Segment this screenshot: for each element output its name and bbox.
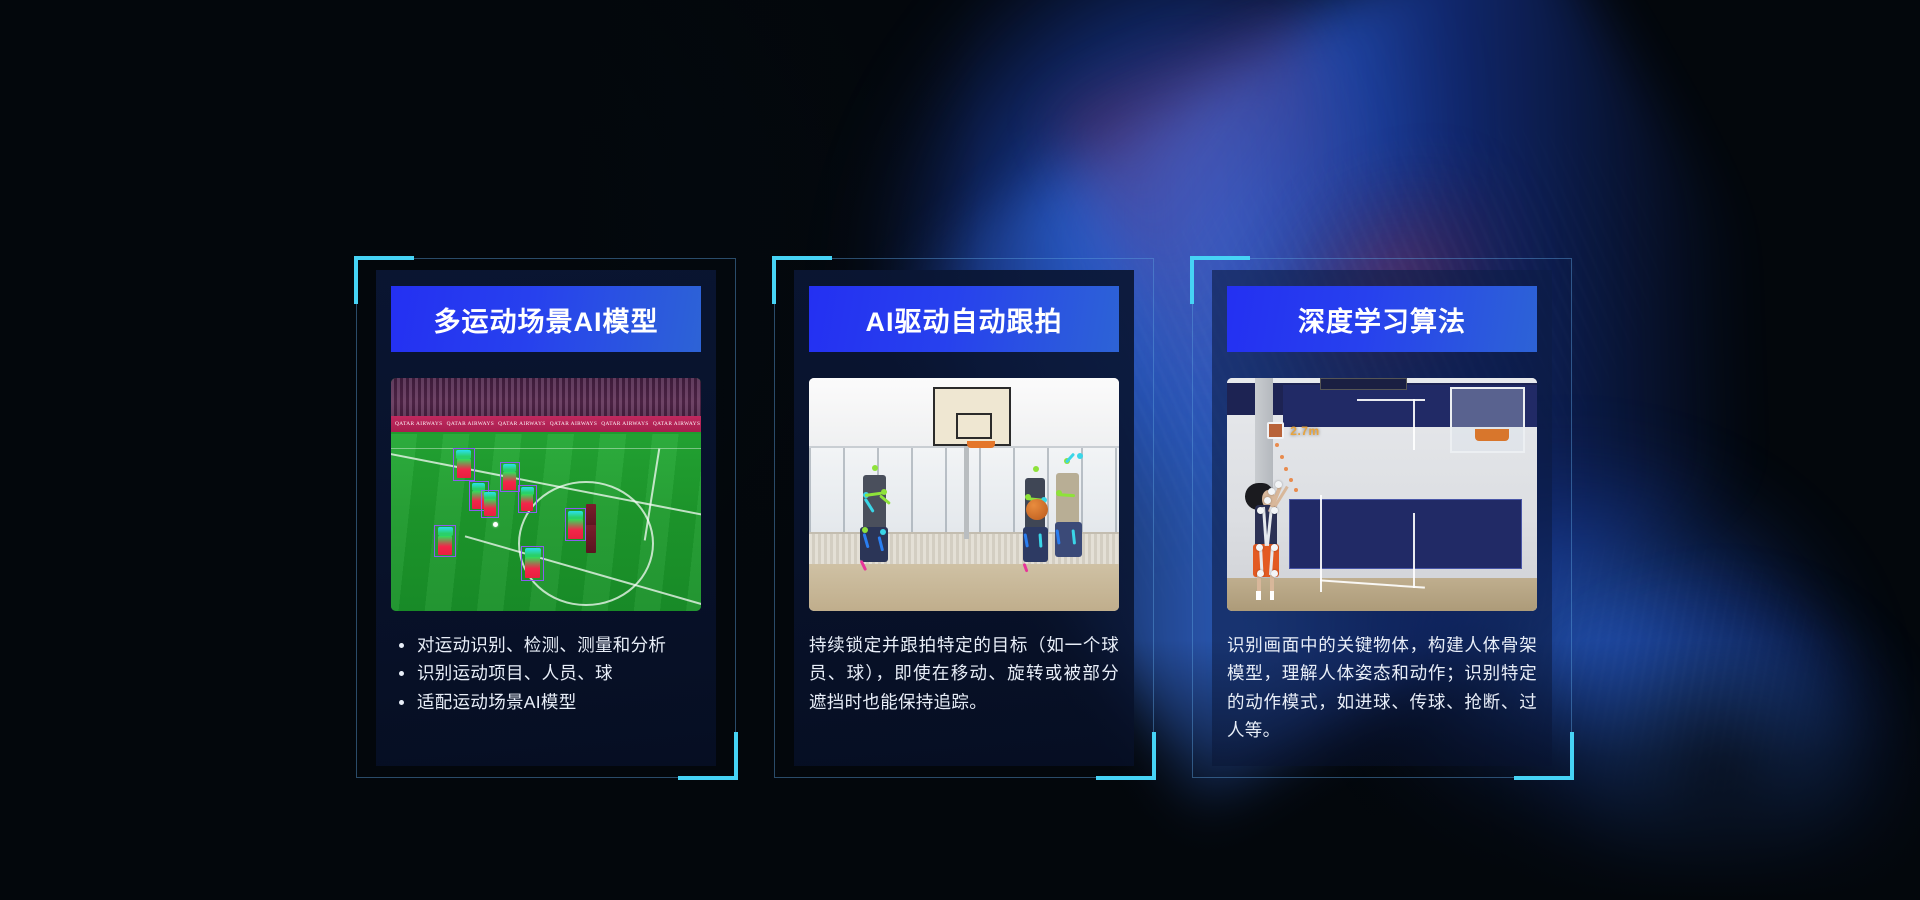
hoarding-text: QATAR AIRWAYS bbox=[391, 421, 443, 427]
feature-bullet-list: 对运动识别、检测、测量和分析 识别运动项目、人员、球 适配运动场景AI模型 bbox=[391, 631, 701, 716]
feature-card-multi-sport-ai-model[interactable]: 多运动场景AI模型 QATAR AIRWAYS QATAR AIRWAYS QA… bbox=[356, 258, 736, 778]
basketball bbox=[1026, 499, 1048, 520]
hoarding-text: QATAR AIRWAYS bbox=[443, 421, 495, 427]
pose-keypoint bbox=[1033, 466, 1039, 472]
pose-keypoint bbox=[881, 489, 887, 495]
pose-skeleton-lower bbox=[503, 472, 516, 490]
player-torso bbox=[1056, 473, 1079, 528]
pose-skeleton-upper bbox=[456, 450, 471, 459]
pose-skeleton-lower bbox=[457, 459, 471, 479]
card-title: 多运动场景AI模型 bbox=[391, 286, 701, 352]
basketball-rim bbox=[967, 441, 995, 448]
backboard bbox=[933, 387, 1011, 445]
card-media-football-pitch-detection-screenshot: QATAR AIRWAYS QATAR AIRWAYS QATAR AIRWAY… bbox=[391, 378, 701, 611]
pose-keypoint bbox=[1275, 481, 1282, 488]
player-shoe bbox=[1256, 591, 1260, 601]
pose-skeleton-lower bbox=[521, 494, 533, 511]
stadium-crowd bbox=[391, 378, 701, 418]
card-body: 持续锁定并跟拍特定的目标（如一个球员、球），即使在移动、旋转或被部分遮挡时也能保… bbox=[809, 631, 1119, 716]
pose-bone bbox=[1065, 453, 1075, 464]
gym-shot-image: 2.7m bbox=[1227, 378, 1537, 611]
card-media-indoor-basketball-pose-screenshot bbox=[809, 378, 1119, 611]
list-item: 对运动识别、检测、测量和分析 bbox=[391, 631, 701, 659]
detection-box bbox=[434, 525, 456, 558]
list-item: 适配运动场景AI模型 bbox=[391, 688, 701, 716]
pose-keypoint bbox=[1077, 453, 1083, 459]
backboard bbox=[1450, 387, 1524, 452]
pose-skeleton-lower bbox=[525, 557, 540, 578]
card-paragraph: 识别画面中的关键物体，构建人体骨架模型，理解人体姿态和动作；识别特定的动作模式，… bbox=[1227, 631, 1537, 744]
pose-bone bbox=[1022, 563, 1028, 573]
advertising-hoarding: QATAR AIRWAYS QATAR AIRWAYS QATAR AIRWAY… bbox=[391, 416, 701, 431]
detection-box bbox=[521, 546, 544, 581]
pose-skeleton-lower bbox=[438, 536, 452, 556]
pose-skeleton-lower bbox=[484, 499, 496, 516]
pitch-image: QATAR AIRWAYS QATAR AIRWAYS QATAR AIRWAY… bbox=[391, 378, 701, 611]
pose-bone bbox=[1038, 534, 1042, 548]
feature-card-deep-learning-algorithm[interactable]: 深度学习算法 bbox=[1192, 258, 1572, 778]
pose-keypoint bbox=[1271, 544, 1278, 551]
tracking-line-horizontal bbox=[1357, 399, 1425, 401]
pose-keypoint bbox=[1256, 544, 1263, 551]
card-panel: AI驱动自动跟拍 bbox=[794, 270, 1134, 766]
detection-box bbox=[481, 490, 500, 518]
pose-keypoint bbox=[1271, 507, 1278, 514]
card-media-basketball-shot-trajectory-screenshot: 2.7m bbox=[1227, 378, 1537, 611]
card-body: 识别画面中的关键物体，构建人体骨架模型，理解人体姿态和动作；识别特定的动作模式，… bbox=[1227, 631, 1537, 744]
slide-stage: 多运动场景AI模型 QATAR AIRWAYS QATAR AIRWAYS QA… bbox=[0, 0, 1920, 900]
distance-value: 2.7m bbox=[1290, 424, 1319, 438]
basketball-rim bbox=[1475, 429, 1509, 441]
hoarding-text: QATAR AIRWAYS bbox=[546, 421, 598, 427]
opposing-player bbox=[586, 525, 595, 553]
card-body: 对运动识别、检测、测量和分析 识别运动项目、人员、球 适配运动场景AI模型 bbox=[391, 631, 701, 716]
card-title: 深度学习算法 bbox=[1227, 286, 1537, 352]
detection-box bbox=[500, 462, 520, 492]
trajectory-point bbox=[1280, 455, 1284, 459]
feature-card-ai-auto-tracking[interactable]: AI驱动自动跟拍 bbox=[774, 258, 1154, 778]
pose-skeleton-lower bbox=[568, 519, 582, 539]
pitch-line-touchline bbox=[391, 448, 701, 450]
detection-box bbox=[565, 508, 587, 541]
player-shoe bbox=[1270, 591, 1274, 601]
wall-padding bbox=[1289, 499, 1522, 569]
trajectory-point bbox=[1294, 488, 1298, 492]
tracking-line-vertical bbox=[1413, 399, 1415, 450]
list-item: 识别运动项目、人员、球 bbox=[391, 659, 701, 687]
hoarding-text: QATAR AIRWAYS bbox=[597, 421, 649, 427]
pose-keypoint bbox=[872, 465, 878, 471]
hoarding-text: QATAR AIRWAYS bbox=[494, 421, 546, 427]
hoarding-text: QATAR AIRWAYS bbox=[649, 421, 701, 427]
card-title: AI驱动自动跟拍 bbox=[809, 286, 1119, 352]
distance-measurement-tag: 2.7m bbox=[1267, 422, 1319, 439]
detection-box bbox=[453, 448, 475, 481]
feature-card-row: 多运动场景AI模型 QATAR AIRWAYS QATAR AIRWAYS QA… bbox=[356, 258, 1572, 778]
trajectory-point bbox=[1284, 467, 1288, 471]
card-paragraph: 持续锁定并跟拍特定的目标（如一个球员、球），即使在移动、旋转或被部分遮挡时也能保… bbox=[809, 631, 1119, 716]
detection-box bbox=[518, 485, 537, 513]
card-panel: 深度学习算法 bbox=[1212, 270, 1552, 766]
gym-image bbox=[809, 378, 1119, 611]
pose-skeleton-player-left bbox=[852, 462, 902, 597]
tracking-line-court-edge bbox=[1413, 513, 1415, 588]
pose-skeleton-player-right-b bbox=[1045, 453, 1095, 597]
pose-skeleton-player bbox=[1243, 481, 1293, 602]
scoreboard bbox=[1320, 378, 1407, 390]
tracked-ball-marker-icon bbox=[1267, 422, 1284, 439]
tracking-line-court-vertical bbox=[1320, 495, 1322, 593]
card-panel: 多运动场景AI模型 QATAR AIRWAYS QATAR AIRWAYS QA… bbox=[376, 270, 716, 766]
hoop-support-pole bbox=[964, 446, 969, 539]
pose-skeleton-upper bbox=[438, 527, 453, 536]
